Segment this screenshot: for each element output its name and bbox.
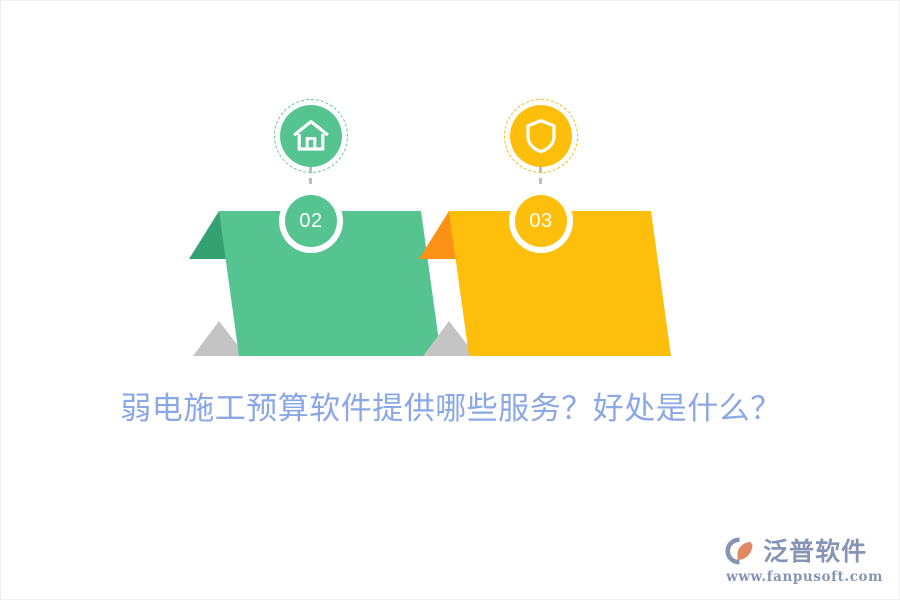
brand-logo[interactable]: 泛普软件 www.fanpusoft.com [724, 536, 883, 585]
step-number-label-03: 03 [529, 211, 552, 231]
logo-website-url: www.fanpusoft.com [726, 569, 883, 585]
icon-disc-03 [510, 105, 572, 167]
fanpu-logo-icon [724, 536, 758, 566]
logo-brand-name: 泛普软件 [763, 539, 867, 564]
step-number-badge-03[interactable]: 03 [515, 195, 567, 247]
step-icon-medallion-02[interactable] [274, 99, 348, 173]
step-item-03[interactable]: 03 [401, 1, 701, 371]
shield-icon [525, 118, 557, 154]
logo-row: 泛普软件 [724, 536, 867, 566]
house-icon [293, 119, 329, 153]
icon-disc-02 [280, 105, 342, 167]
infographic-canvas: 02 03 [0, 0, 900, 600]
page-title: 弱电施工预算软件提供哪些服务？好处是什么？ [1, 383, 900, 428]
step-number-label-02: 02 [299, 211, 322, 231]
step-icon-medallion-03[interactable] [504, 99, 578, 173]
step-number-badge-02[interactable]: 02 [285, 195, 337, 247]
